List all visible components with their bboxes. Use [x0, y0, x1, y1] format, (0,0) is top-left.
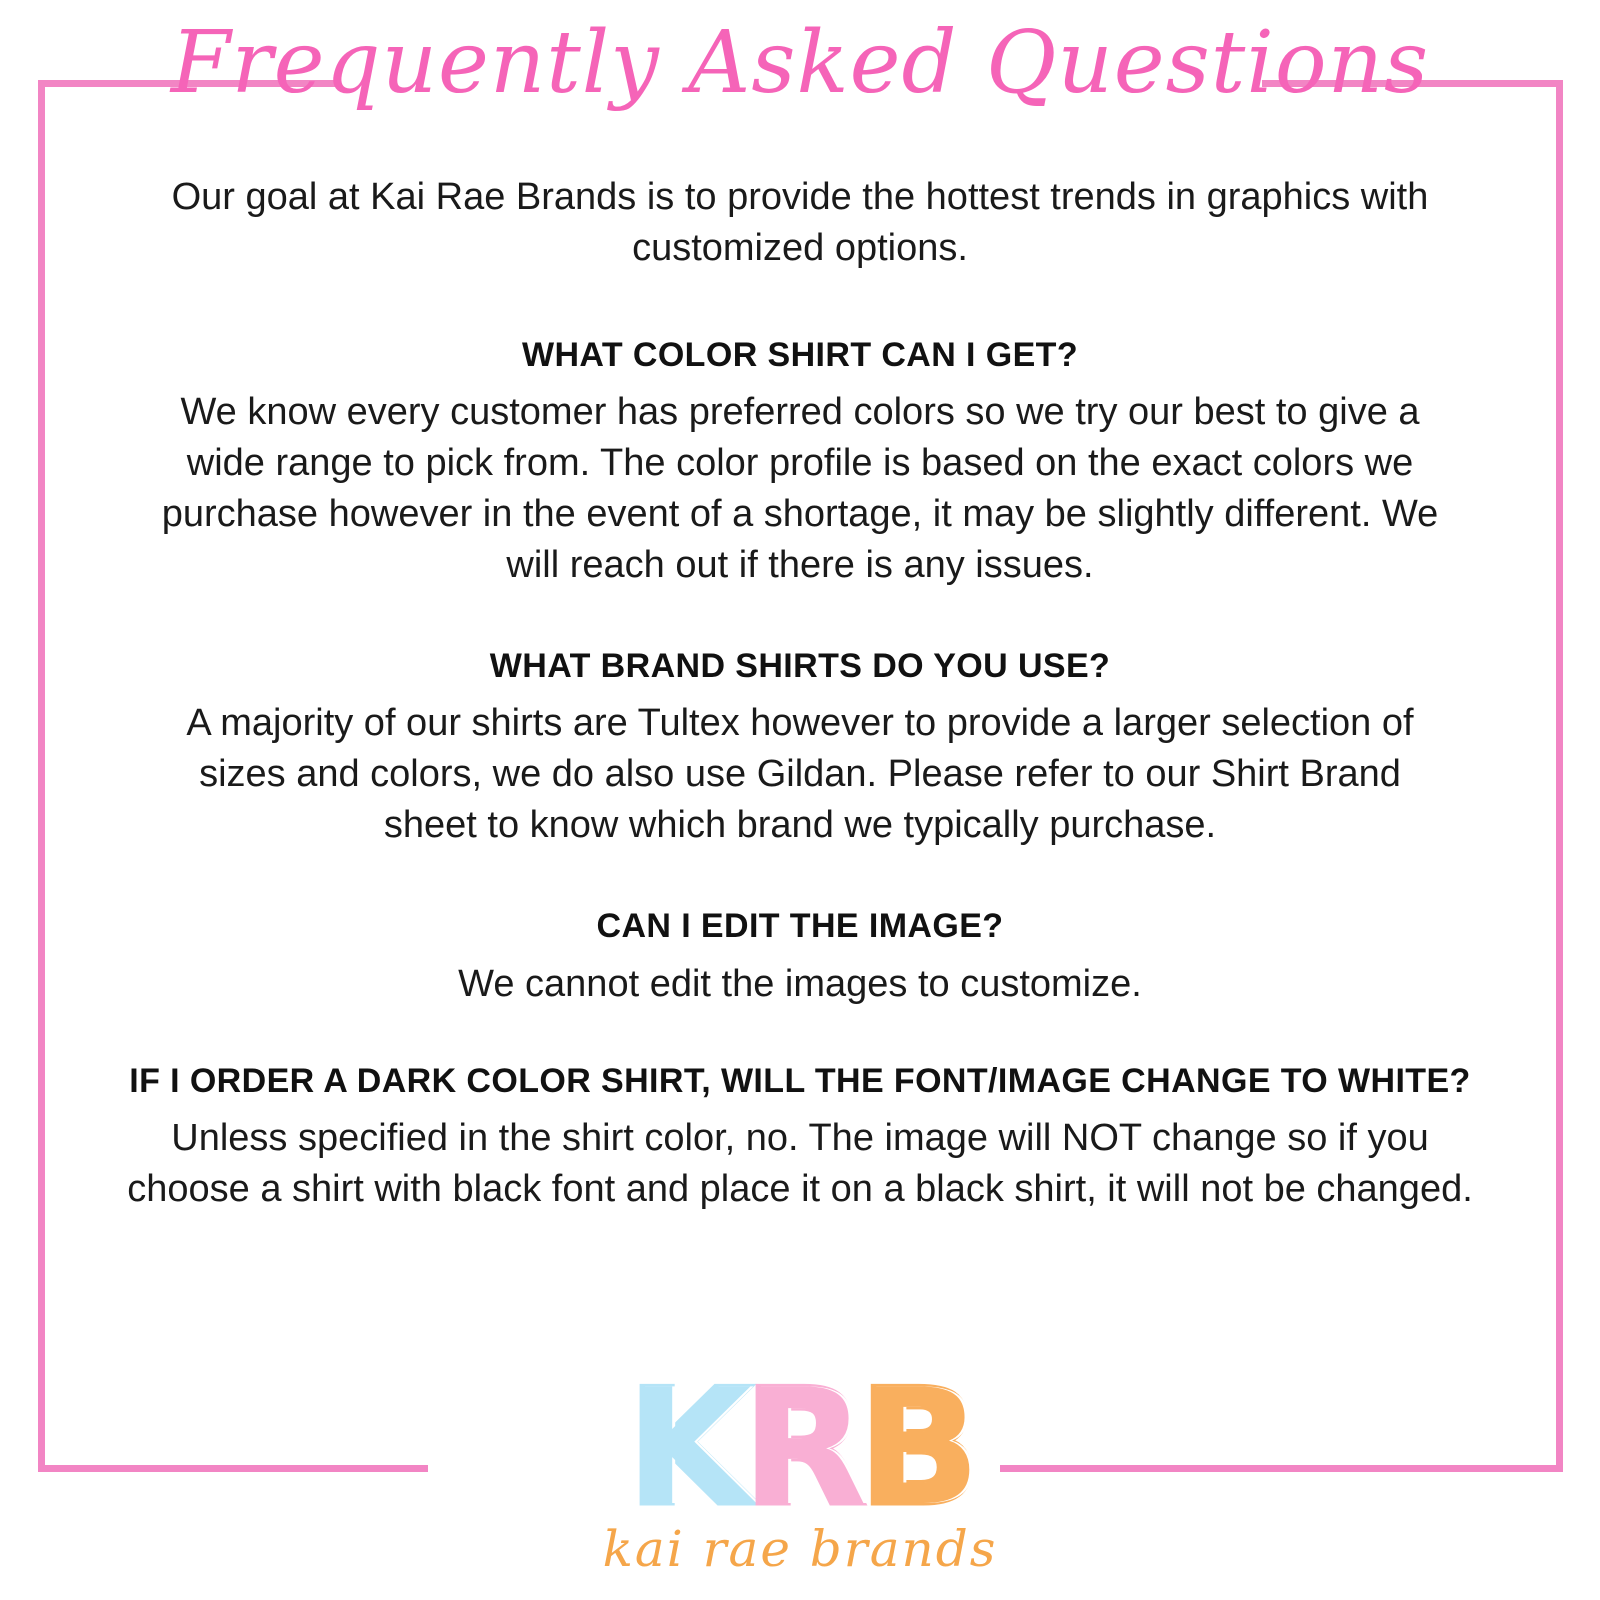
logo-letter-k: K	[627, 1368, 743, 1528]
faq-answer: We know every customer has preferred col…	[150, 387, 1450, 591]
intro-paragraph: Our goal at Kai Rae Brands is to provide…	[120, 172, 1480, 274]
page-title: Frequently Asked Questions	[0, 10, 1600, 118]
faq-answer: We cannot edit the images to customize.	[150, 959, 1450, 1010]
faq-question: WHAT BRAND SHIRTS DO YOU USE?	[150, 645, 1450, 689]
faq-answer: Unless specified in the shirt color, no.…	[120, 1113, 1480, 1215]
faq-answer: A majority of our shirts are Tultex howe…	[150, 698, 1450, 851]
logo-tagline: kai rae brands	[0, 1522, 1600, 1577]
frame-border-right	[1556, 80, 1563, 1472]
faq-question: WHAT COLOR SHIRT CAN I GET?	[150, 334, 1450, 378]
faq-content: Our goal at Kai Rae Brands is to provide…	[120, 172, 1480, 1239]
logo-letter-b: B	[859, 1368, 973, 1528]
faq-question: IF I ORDER A DARK COLOR SHIRT, WILL THE …	[120, 1060, 1480, 1104]
logo-letters: KRB	[627, 1368, 972, 1528]
faq-item: WHAT BRAND SHIRTS DO YOU USE? A majority…	[120, 645, 1480, 851]
faq-item: CAN I EDIT THE IMAGE? We cannot edit the…	[120, 905, 1480, 1009]
frame-border-left	[38, 80, 45, 1472]
brand-logo: KRB kai rae brands	[0, 1368, 1600, 1577]
faq-item: WHAT COLOR SHIRT CAN I GET? We know ever…	[120, 334, 1480, 591]
logo-letter-r: R	[743, 1368, 858, 1528]
faq-item: IF I ORDER A DARK COLOR SHIRT, WILL THE …	[120, 1060, 1480, 1215]
faq-page: Frequently Asked Questions Our goal at K…	[0, 0, 1600, 1600]
faq-question: CAN I EDIT THE IMAGE?	[150, 905, 1450, 949]
